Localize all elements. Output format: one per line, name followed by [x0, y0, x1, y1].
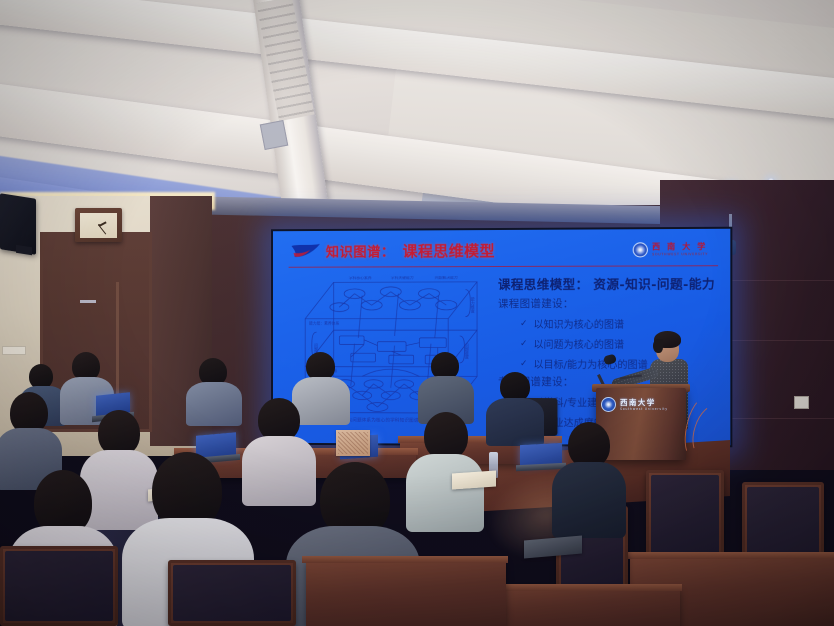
wall-outlet-icon — [794, 396, 809, 409]
clock-minute-hand — [98, 225, 106, 234]
person-body — [186, 382, 242, 426]
check-icon: ✓ — [520, 318, 528, 328]
presenter-hair-side — [653, 339, 663, 353]
university-name-en: SOUTHWEST UNIVERSITY — [652, 252, 708, 256]
audience-member — [552, 422, 626, 534]
slide-title: 知识图谱：课程思维模型 — [326, 240, 495, 262]
person-head — [424, 412, 468, 460]
notebook — [452, 470, 496, 489]
check-icon: ✓ — [520, 339, 528, 349]
check-icon: ✓ — [520, 359, 528, 369]
tissue-box — [336, 430, 370, 456]
svg-text:学科核心素养: 学科核心素养 — [349, 276, 372, 280]
person-body — [486, 398, 544, 446]
svg-text:能力层：素养体系: 能力层：素养体系 — [309, 320, 339, 325]
svg-text:问题解决能力: 问题解决能力 — [435, 276, 458, 280]
wall-outlet-icon — [2, 346, 26, 355]
slide-bullet-text: 以问题为核心的图谱 — [534, 336, 625, 351]
slide-title-bar: 知识图谱：课程思维模型 西 南 大 学 SOUTHWEST UNIVERSITY — [291, 239, 716, 267]
university-seal-icon — [633, 242, 648, 257]
audience-member — [486, 372, 544, 444]
podium-university-name-en: Southwest University — [620, 407, 668, 411]
slide-divider — [289, 265, 718, 268]
clock-face — [80, 213, 117, 238]
clock-center-pin — [98, 224, 100, 226]
svg-text:学科关键能力: 学科关键能力 — [391, 276, 414, 280]
slide-heading: 课程思维模型： 资源-知识-问题-能力 — [498, 273, 722, 293]
seat-back — [168, 560, 296, 626]
bench-desktop — [302, 556, 508, 563]
lecture-hall-photo: 知识图谱：课程思维模型 西 南 大 学 SOUTHWEST UNIVERSITY — [0, 0, 834, 626]
wall-clock-icon — [75, 208, 122, 242]
slide-bullet-text: 以知识为核心的图谱 — [534, 316, 625, 331]
bench-desktop — [626, 552, 834, 559]
university-seal-icon — [601, 397, 616, 412]
bench-desk — [306, 560, 506, 626]
slide-university-logo: 西 南 大 学 SOUTHWEST UNIVERSITY — [633, 242, 708, 257]
slide-section-label: 课程图谱建设： — [498, 296, 722, 311]
seat-back — [0, 546, 118, 626]
door-highlight — [80, 300, 96, 303]
ceiling-vent — [260, 120, 289, 150]
university-name: 西 南 大 学 — [652, 243, 708, 252]
audience-member — [186, 358, 242, 424]
svg-text:能力维度: 能力维度 — [470, 297, 475, 314]
person-body — [552, 462, 626, 538]
swoosh-logo-icon — [291, 243, 322, 259]
empty-seat — [646, 470, 724, 562]
